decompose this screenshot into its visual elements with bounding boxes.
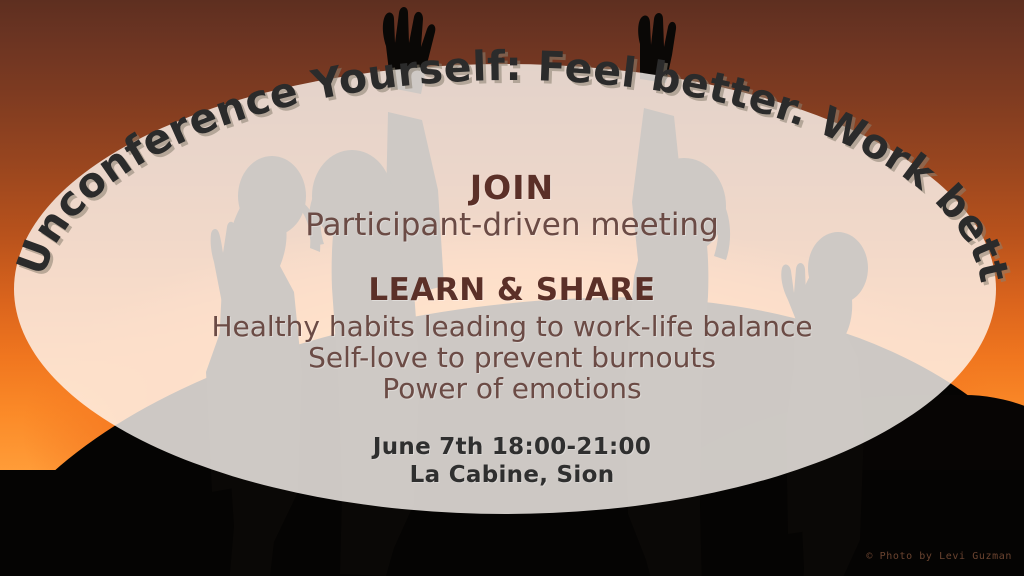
learn-point-1: Healthy habits leading to work-life bala… [0, 310, 1024, 343]
event-datetime: June 7th 18:00-21:00 [0, 434, 1024, 460]
learn-point-2: Self-love to prevent burnouts [0, 341, 1024, 374]
learn-share-heading: LEARN & SHARE [0, 272, 1024, 308]
join-heading: JOIN [0, 168, 1024, 207]
event-location: La Cabine, Sion [0, 462, 1024, 488]
join-subheading: Participant-driven meeting [0, 207, 1024, 243]
learn-point-3: Power of emotions [0, 372, 1024, 405]
poster-content: JOIN Participant-driven meeting LEARN & … [0, 0, 1024, 576]
photo-credit: © Photo by Levi Guzman [866, 551, 1012, 562]
event-poster: Unconference Yourself: Feel better. Work… [0, 0, 1024, 576]
